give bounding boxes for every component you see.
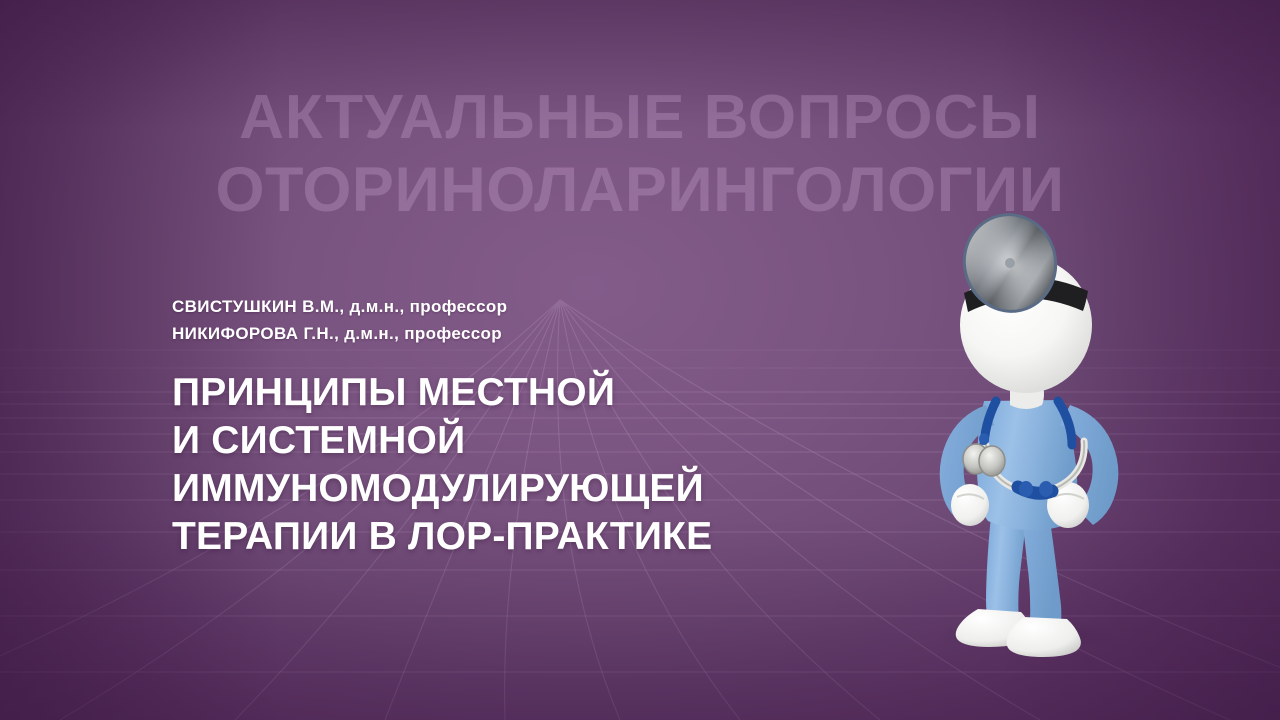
shoes — [956, 609, 1081, 657]
title-line-3: ИММУНОМОДУЛИРУЮЩЕЙ — [172, 465, 942, 513]
authors-block: СВИСТУШКИН В.М., д.м.н., профессор НИКИФ… — [172, 293, 942, 347]
author-line-1: СВИСТУШКИН В.М., д.м.н., профессор — [172, 293, 942, 320]
watermark-line-1: АКТУАЛЬНЫЕ ВОПРОСЫ — [0, 82, 1280, 154]
title-line-2: И СИСТЕМНОЙ — [172, 417, 942, 465]
page-title: ПРИНЦИПЫ МЕСТНОЙ И СИСТЕМНОЙ ИММУНОМОДУЛ… — [172, 369, 942, 561]
doctor-character — [900, 205, 1160, 650]
title-line-1: ПРИНЦИПЫ МЕСТНОЙ — [172, 369, 942, 417]
presentation-slide: АКТУАЛЬНЫЕ ВОПРОСЫ ОТОРИНОЛАРИНГОЛОГИИ С… — [0, 0, 1280, 720]
author-line-2: НИКИФОРОВА Г.Н., д.м.н., профессор — [172, 320, 942, 347]
slide-copy: СВИСТУШКИН В.М., д.м.н., профессор НИКИФ… — [172, 293, 942, 561]
title-line-4: ТЕРАПИИ В ЛОР-ПРАКТИКЕ — [172, 513, 942, 561]
